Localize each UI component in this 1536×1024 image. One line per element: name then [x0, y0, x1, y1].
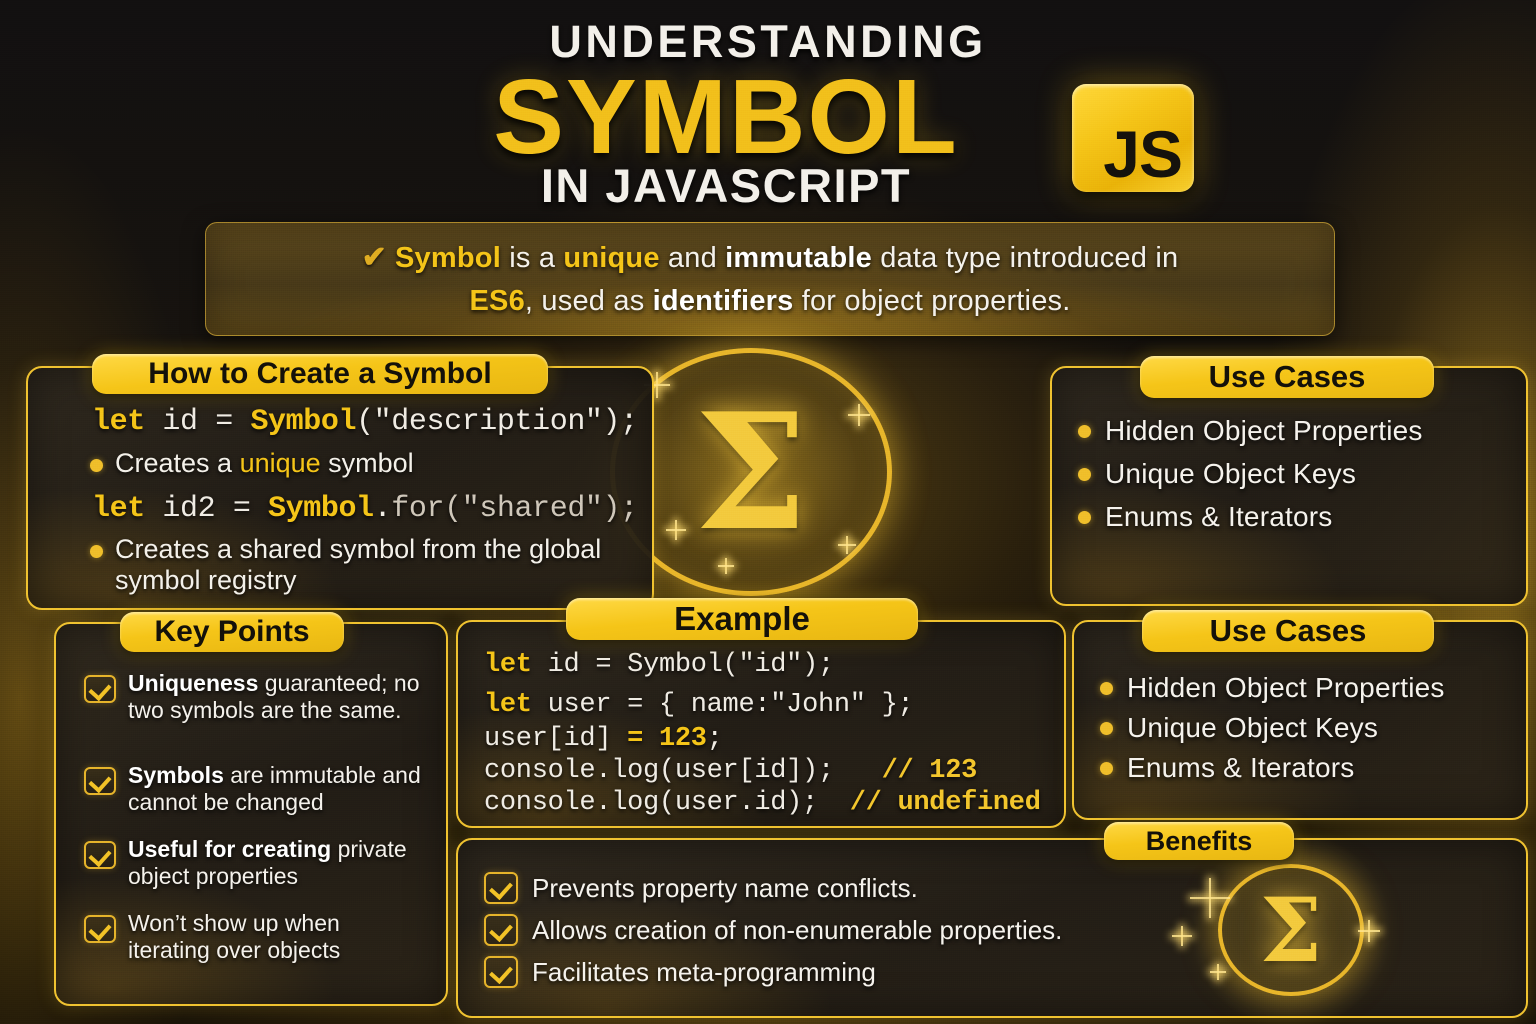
key-point-text: Won’t show up when iterating over object…	[128, 910, 424, 964]
bullet-dot-icon	[90, 545, 103, 558]
bullet-dot-icon	[1100, 682, 1113, 695]
panel-title-how-to-create: How to Create a Symbol	[92, 354, 548, 394]
text-run: user[id]	[484, 724, 627, 754]
key-point-item: Uniqueness guaranteed; no two symbols ar…	[84, 670, 424, 724]
example-code-line: console.log(user.id); // undefined	[484, 788, 1041, 818]
benefit-item: Prevents property name conflicts.	[484, 872, 918, 904]
text-run: ;	[707, 724, 723, 754]
key-point-bold: Symbols	[128, 762, 224, 788]
banner-row-1: ✔Symbol is a unique and immutable data t…	[362, 236, 1179, 280]
definition-banner: ✔Symbol is a unique and immutable data t…	[205, 222, 1335, 336]
text-run: ES6	[470, 285, 525, 317]
js-badge-label: JS	[1103, 123, 1194, 192]
text-run: ("description");	[356, 405, 638, 439]
text-run: id =	[532, 650, 627, 680]
benefit-text: Allows creation of non-enumerable proper…	[532, 915, 1062, 946]
example-code-line: console.log(user[id]); // 123	[484, 756, 977, 786]
javascript-logo-icon: JS	[1072, 84, 1194, 192]
text-run: is a	[501, 242, 563, 274]
checkbox-checked-icon	[484, 872, 518, 904]
example-code-line: let user = { name:"John" };	[484, 690, 913, 720]
text-run: id	[145, 405, 215, 439]
checkbox-checked-icon	[84, 915, 116, 943]
title-line-2: SYMBOL	[0, 62, 1536, 173]
bullet-dot-icon	[90, 459, 103, 472]
key-point-bold: Uniqueness	[128, 670, 258, 696]
list-item: Unique Object Keys	[1100, 712, 1378, 744]
list-item-label: Unique Object Keys	[1127, 712, 1378, 744]
bullet-dot-icon	[1100, 762, 1113, 775]
key-point-text: Uniqueness guaranteed; no two symbols ar…	[128, 670, 424, 724]
checkbox-checked-icon	[484, 914, 518, 946]
sigma-emblem-benefits: Σ	[1218, 864, 1364, 996]
checkbox-checked-icon	[84, 841, 116, 869]
panel-title-key-points: Key Points	[120, 612, 344, 652]
key-point-text: Symbols are immutable and cannot be chan…	[128, 762, 424, 816]
text-run: // undefined	[850, 788, 1041, 818]
text-run: user = { name:"John" };	[532, 690, 914, 720]
panel-title-use-cases-top: Use Cases	[1140, 356, 1434, 398]
text-run: identifiers	[653, 285, 794, 317]
list-item: Hidden Object Properties	[1100, 672, 1445, 704]
title-line-3: IN JAVASCRIPT	[0, 158, 1536, 213]
text-run: Creates a	[115, 448, 240, 478]
text-run: unique	[563, 242, 659, 274]
text-run: symbol	[321, 448, 414, 478]
text-run: id2	[145, 492, 233, 526]
text-run: // 123	[882, 756, 977, 786]
key-point-text: Useful for creating private object prope…	[128, 836, 424, 890]
benefit-text: Prevents property name conflicts.	[532, 873, 918, 904]
code-line-symbol-for: let id2 = Symbol.for("shared");	[92, 492, 638, 526]
bullet-dot-icon	[1078, 468, 1091, 481]
text-run: .	[374, 492, 392, 526]
text-run: console.log(user[id]);	[484, 756, 834, 786]
text-run: for	[391, 492, 444, 526]
banner-row-1-text: Symbol is a unique and immutable data ty…	[395, 242, 1178, 274]
text-run: let	[92, 492, 145, 526]
bullet-text: Creates a shared symbol from the global …	[115, 534, 646, 597]
key-point-item: Symbols are immutable and cannot be chan…	[84, 762, 424, 816]
text-run: , used as	[525, 285, 653, 317]
key-point-bold: Useful for creating	[128, 836, 331, 862]
bullet-creates-shared: Creates a shared symbol from the global …	[90, 534, 646, 597]
list-item-label: Enums & Iterators	[1105, 501, 1332, 533]
code-line-create-symbol: let id = Symbol("description");	[92, 405, 638, 439]
key-point-rest: Won’t show up when iterating over object…	[128, 910, 340, 963]
text-run: Symbol("id");	[627, 650, 834, 680]
text-run	[834, 756, 882, 786]
list-item: Enums & Iterators	[1078, 501, 1332, 533]
benefit-item: Allows creation of non-enumerable proper…	[484, 914, 1062, 946]
text-run	[818, 788, 850, 818]
text-run: =	[215, 405, 250, 439]
example-code-line: let id = Symbol("id");	[484, 650, 834, 680]
list-item: Unique Object Keys	[1078, 458, 1356, 490]
text-run: console.log(user.id);	[484, 788, 818, 818]
banner-row-2: ES6, used as identifiers for object prop…	[470, 280, 1071, 322]
key-point-item: Useful for creating private object prope…	[84, 836, 424, 890]
checkbox-checked-icon	[84, 767, 116, 795]
sigma-glyph: Σ	[1260, 886, 1322, 974]
list-item: Enums & Iterators	[1100, 752, 1354, 784]
sigma-glyph: Σ	[694, 392, 807, 552]
text-run: Symbol	[268, 492, 374, 526]
list-item-label: Enums & Iterators	[1127, 752, 1354, 784]
bullet-text: Creates a unique symbol	[115, 448, 414, 479]
key-point-item: Won’t show up when iterating over object…	[84, 910, 424, 964]
text-run: =	[233, 492, 268, 526]
benefit-item: Facilitates meta-programming	[484, 956, 876, 988]
banner-row-2-text: ES6, used as identifiers for object prop…	[470, 285, 1071, 317]
infographic-canvas: UNDERSTANDING SYMBOL IN JAVASCRIPT JS ✔S…	[0, 0, 1536, 1024]
checkbox-checked-icon	[484, 956, 518, 988]
header: UNDERSTANDING SYMBOL IN JAVASCRIPT JS	[0, 0, 1536, 212]
check-icon: ✔	[362, 236, 387, 280]
text-run: data type introduced in	[872, 242, 1178, 274]
bullet-dot-icon	[1078, 511, 1091, 524]
text-run: let	[92, 405, 145, 439]
text-run: and	[660, 242, 726, 274]
text-run: Symbol	[395, 242, 501, 274]
text-run: for object properties.	[793, 285, 1070, 317]
title-subtitle-text: IN JAVASCRIPT	[541, 158, 911, 213]
example-code-line: user[id] = 123;	[484, 724, 723, 754]
checkbox-checked-icon	[84, 675, 116, 703]
list-item-label: Hidden Object Properties	[1105, 415, 1423, 447]
panel-title-use-cases-right: Use Cases	[1142, 610, 1434, 652]
bullet-dot-icon	[1100, 722, 1113, 735]
text-run: 123	[659, 724, 707, 754]
text-run: let	[484, 690, 532, 720]
bullet-creates-unique: Creates a unique symbol	[90, 448, 610, 479]
text-run: unique	[240, 448, 321, 478]
text-run: =	[627, 724, 659, 754]
benefit-text: Facilitates meta-programming	[532, 957, 876, 988]
list-item-label: Unique Object Keys	[1105, 458, 1356, 490]
list-item-label: Hidden Object Properties	[1127, 672, 1445, 704]
title-symbol-text: SYMBOL	[493, 62, 958, 173]
list-item: Hidden Object Properties	[1078, 415, 1423, 447]
panel-title-benefits: Benefits	[1104, 822, 1294, 860]
text-run: ("shared");	[444, 492, 638, 526]
text-run: immutable	[725, 242, 872, 274]
text-run: let	[484, 650, 532, 680]
text-run: Symbol	[250, 405, 356, 439]
panel-title-example: Example	[566, 598, 918, 640]
bullet-dot-icon	[1078, 425, 1091, 438]
